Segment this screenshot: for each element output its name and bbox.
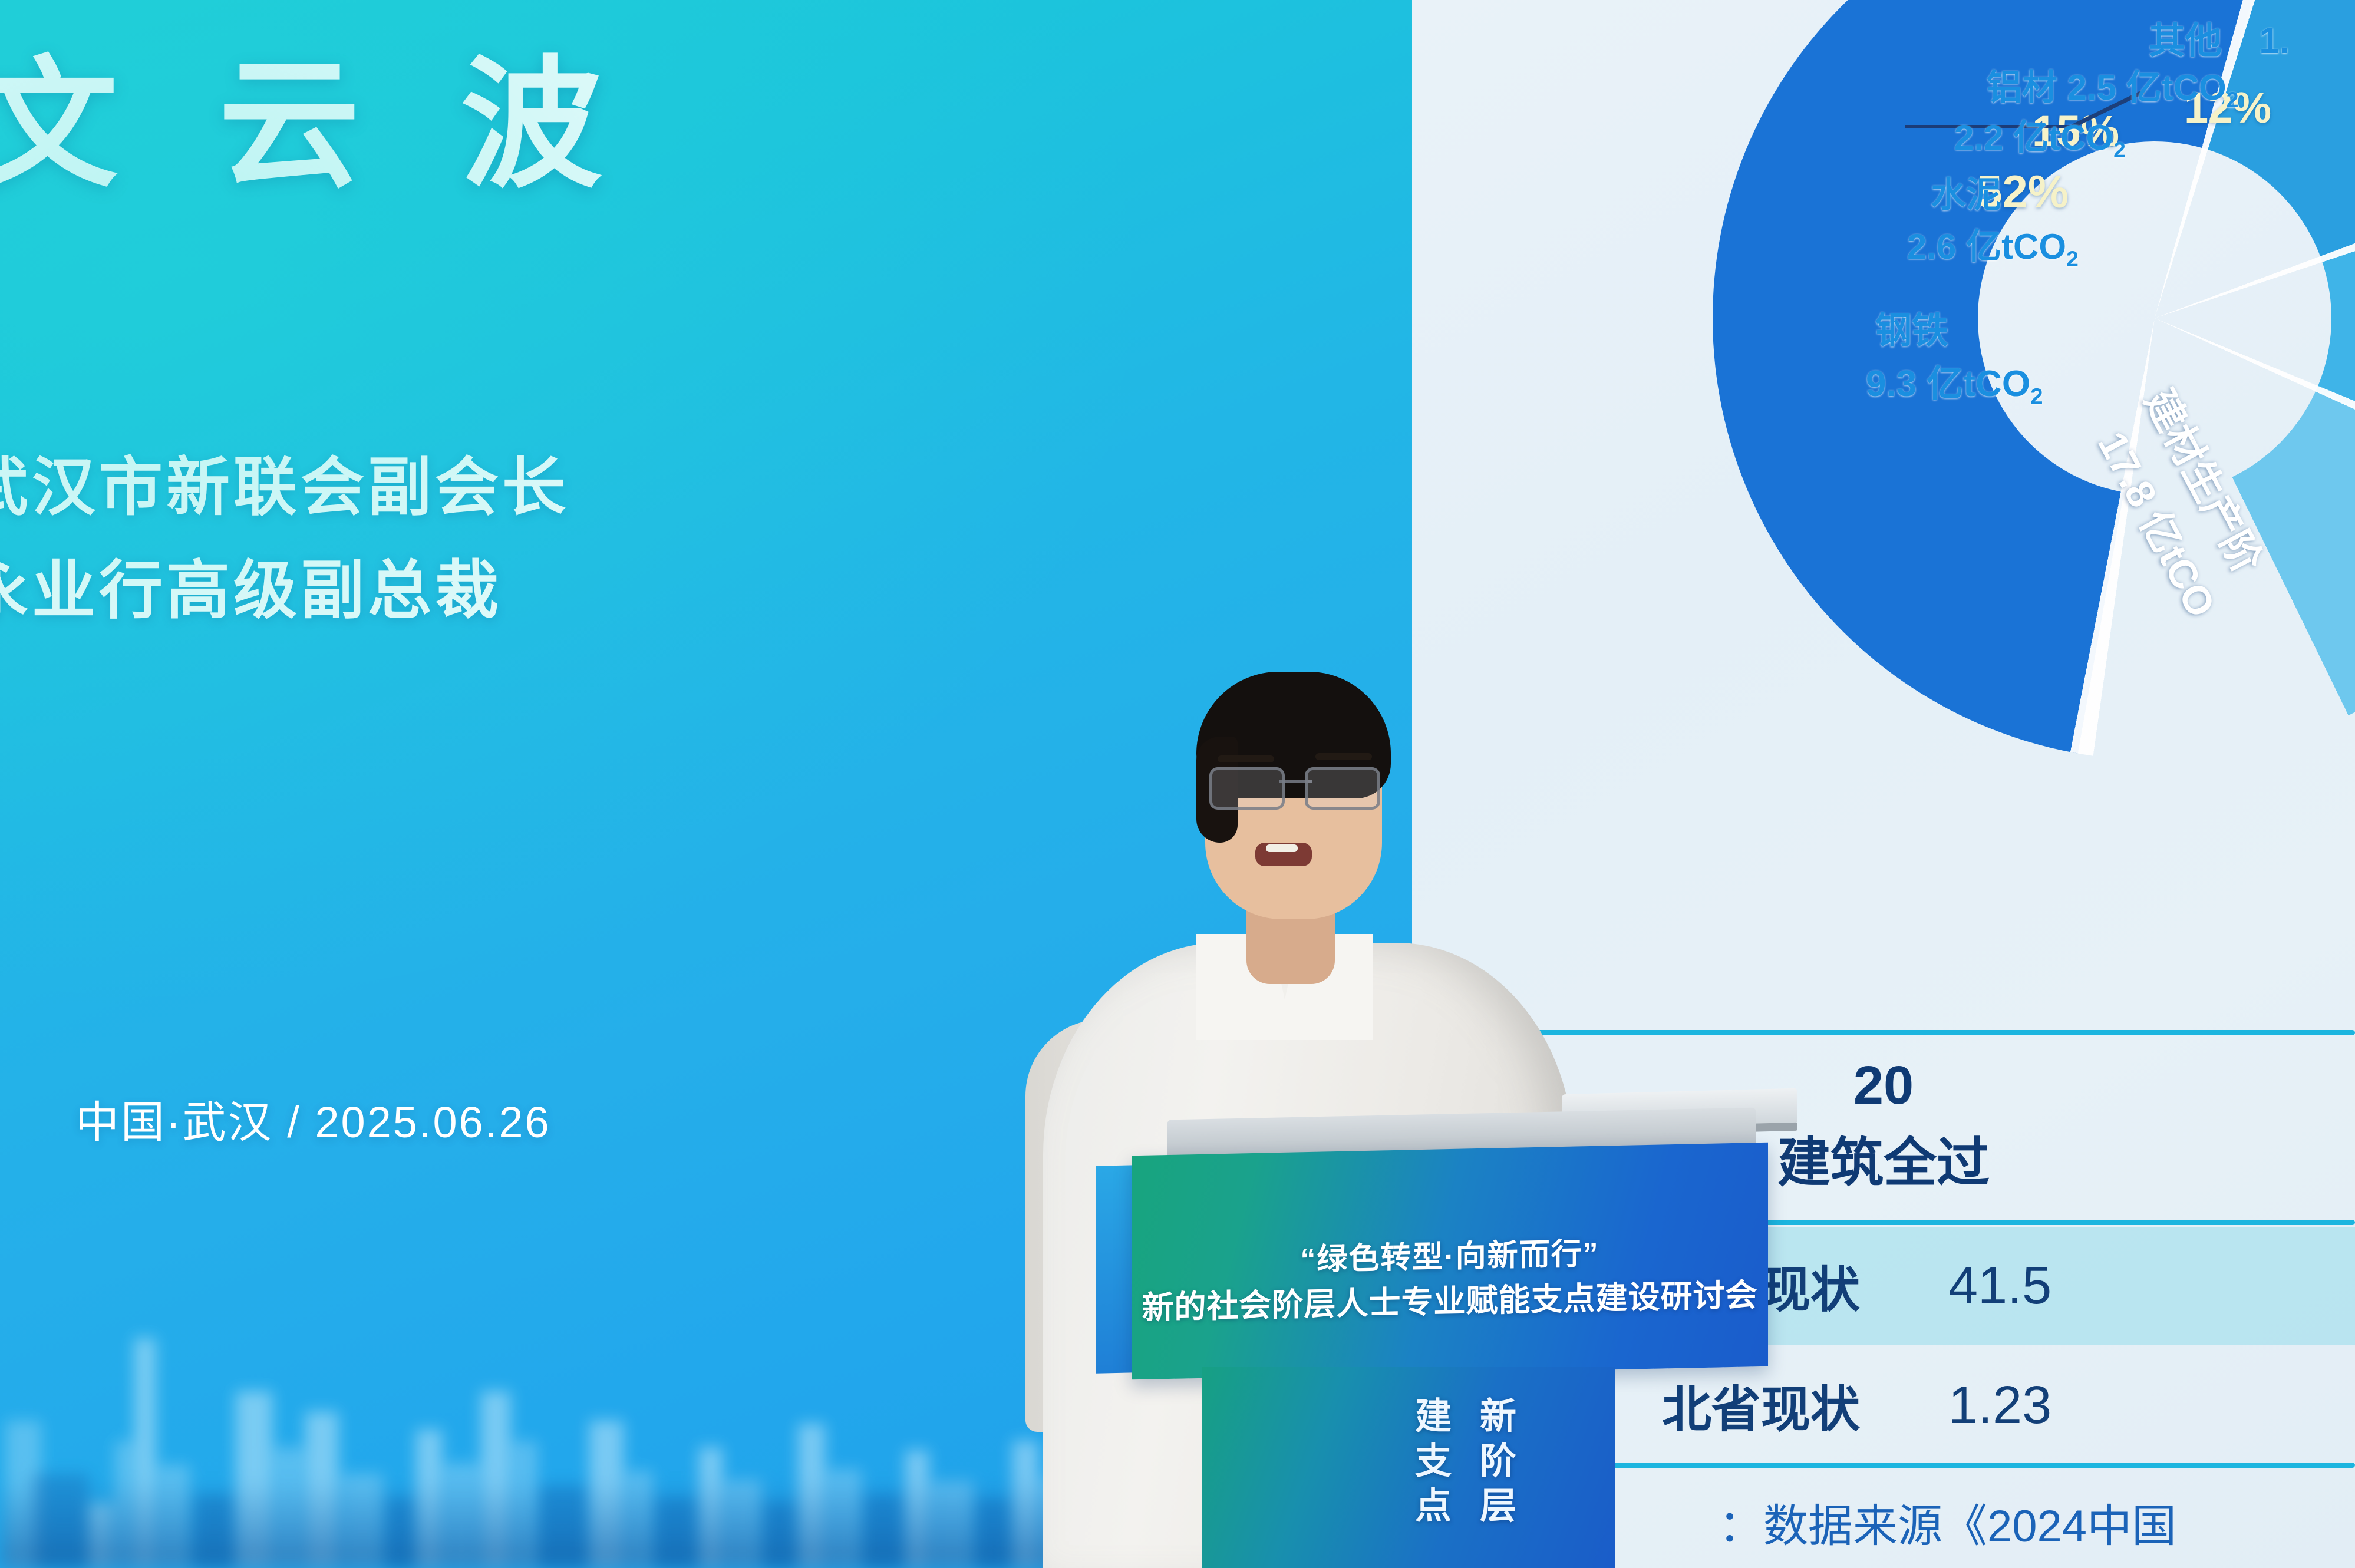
presentation-photo: 文 云 波 武汉市新联会副会长 永业行高级副总裁 中国·武汉 / 2025.06… [0, 0, 2355, 1568]
speaker-title-line-2: 永业行高级副总裁 [0, 539, 502, 631]
location-date: 中国·武汉 / 2025.06.26 [75, 1087, 551, 1150]
glasses-lens-left [1209, 767, 1285, 810]
podium: “绿色转型·向新而行” 新的社会阶层人士专业赋能支点建设研讨会 建支点 新阶层 [1096, 1137, 1792, 1568]
label-cement-value: 2.6 亿tCO2 [1907, 218, 2079, 272]
label-steel-value: 9.3 亿tCO2 [1866, 354, 2043, 410]
label-other-value: 2.2 亿tCO2 [1954, 109, 2126, 163]
speaker-eyebrow-left [1218, 755, 1274, 762]
label-aluminum: 铝材 2.5 亿tCO2 [1987, 59, 2238, 113]
glasses-lens-right [1305, 767, 1380, 810]
podium-side-panel [1096, 1165, 1136, 1373]
podium-vertical-text-right: 新阶层 [1467, 1397, 1520, 1531]
label-steel-name: 钢铁 [1875, 301, 1948, 354]
speaker-title-line-1: 武汉市新联会副会长 [0, 436, 569, 528]
table-row-value: 41.5 [1878, 1256, 2355, 1316]
podium-vertical-text-left: 建支点 [1403, 1397, 1456, 1531]
speaker-name: 文 云 波 [0, 11, 632, 215]
label-cement-name: 水泥 [1931, 166, 2001, 217]
glasses-icon [1209, 767, 1380, 808]
label-other-name: 其他 1. [2149, 11, 2290, 64]
table-row-value: 1.23 [1878, 1375, 2355, 1436]
speaker-eyebrow-right [1315, 753, 1372, 760]
speaker-mouth [1255, 843, 1312, 866]
